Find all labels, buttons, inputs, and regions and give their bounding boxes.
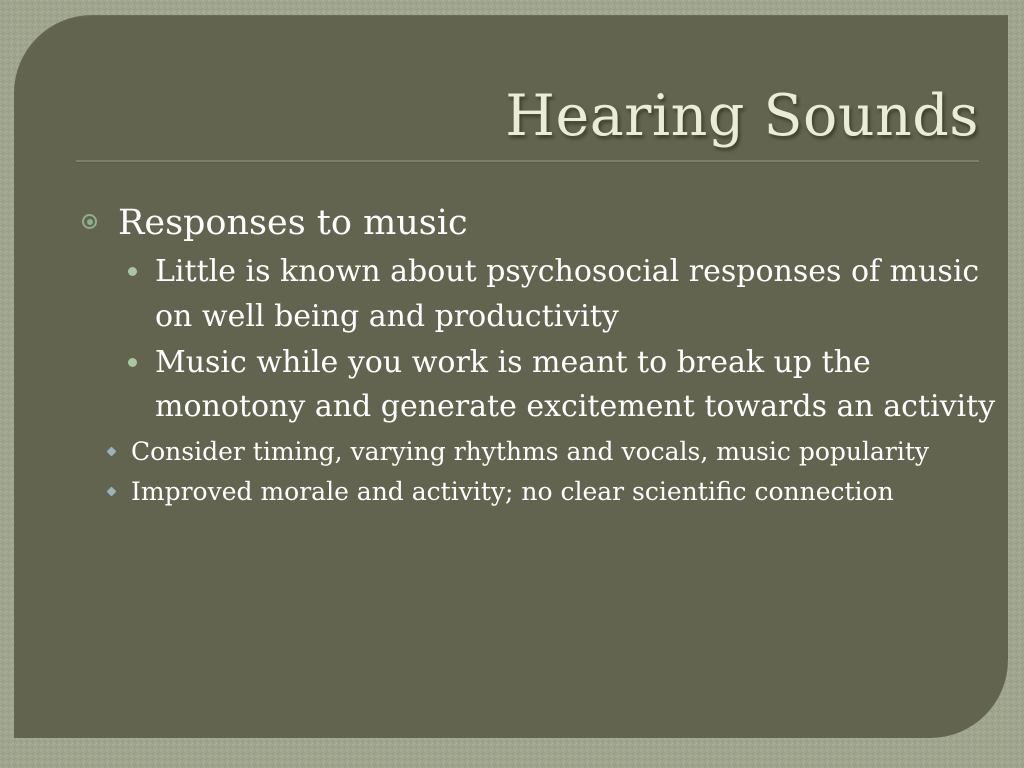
bullet-item-level-2: Music while you work is meant to break u…: [120, 341, 996, 430]
bullet-list-level-1: Responses to music Little is known about…: [76, 203, 996, 513]
bullet-item-level-3: Improved morale and activity; no clear s…: [102, 472, 996, 513]
ring-dot-bullet-icon: [82, 214, 97, 229]
slide-content-panel: Hearing Sounds Responses to music Little…: [14, 15, 1008, 738]
slide-canvas: Hearing Sounds Responses to music Little…: [0, 0, 1024, 768]
bullet-item-level-1: Responses to music: [76, 203, 996, 244]
dot-bullet-icon: [128, 267, 137, 276]
slide-title: Hearing Sounds: [76, 87, 979, 146]
bullet-list-level-2: Little is known about psychosocial respo…: [76, 250, 996, 513]
dot-bullet-icon: [128, 358, 137, 367]
bullet-text: Consider timing, varying rhythms and voc…: [131, 432, 996, 473]
bullet-item-level-2: Little is known about psychosocial respo…: [120, 250, 996, 339]
bullet-list-level-3: Consider timing, varying rhythms and voc…: [76, 432, 996, 513]
bullet-text: Improved morale and activity; no clear s…: [131, 472, 996, 513]
title-divider-rule: [76, 160, 979, 163]
bullet-item-level-3: Consider timing, varying rhythms and voc…: [102, 432, 996, 473]
diamond-bullet-icon: [107, 487, 117, 497]
bullet-text: Responses to music: [118, 203, 996, 244]
bullet-text: Little is known about psychosocial respo…: [155, 250, 996, 339]
slide-body: Responses to music Little is known about…: [76, 203, 996, 513]
diamond-bullet-icon: [107, 446, 117, 456]
bullet-text: Music while you work is meant to break u…: [155, 341, 996, 430]
title-block: Hearing Sounds: [76, 87, 979, 163]
